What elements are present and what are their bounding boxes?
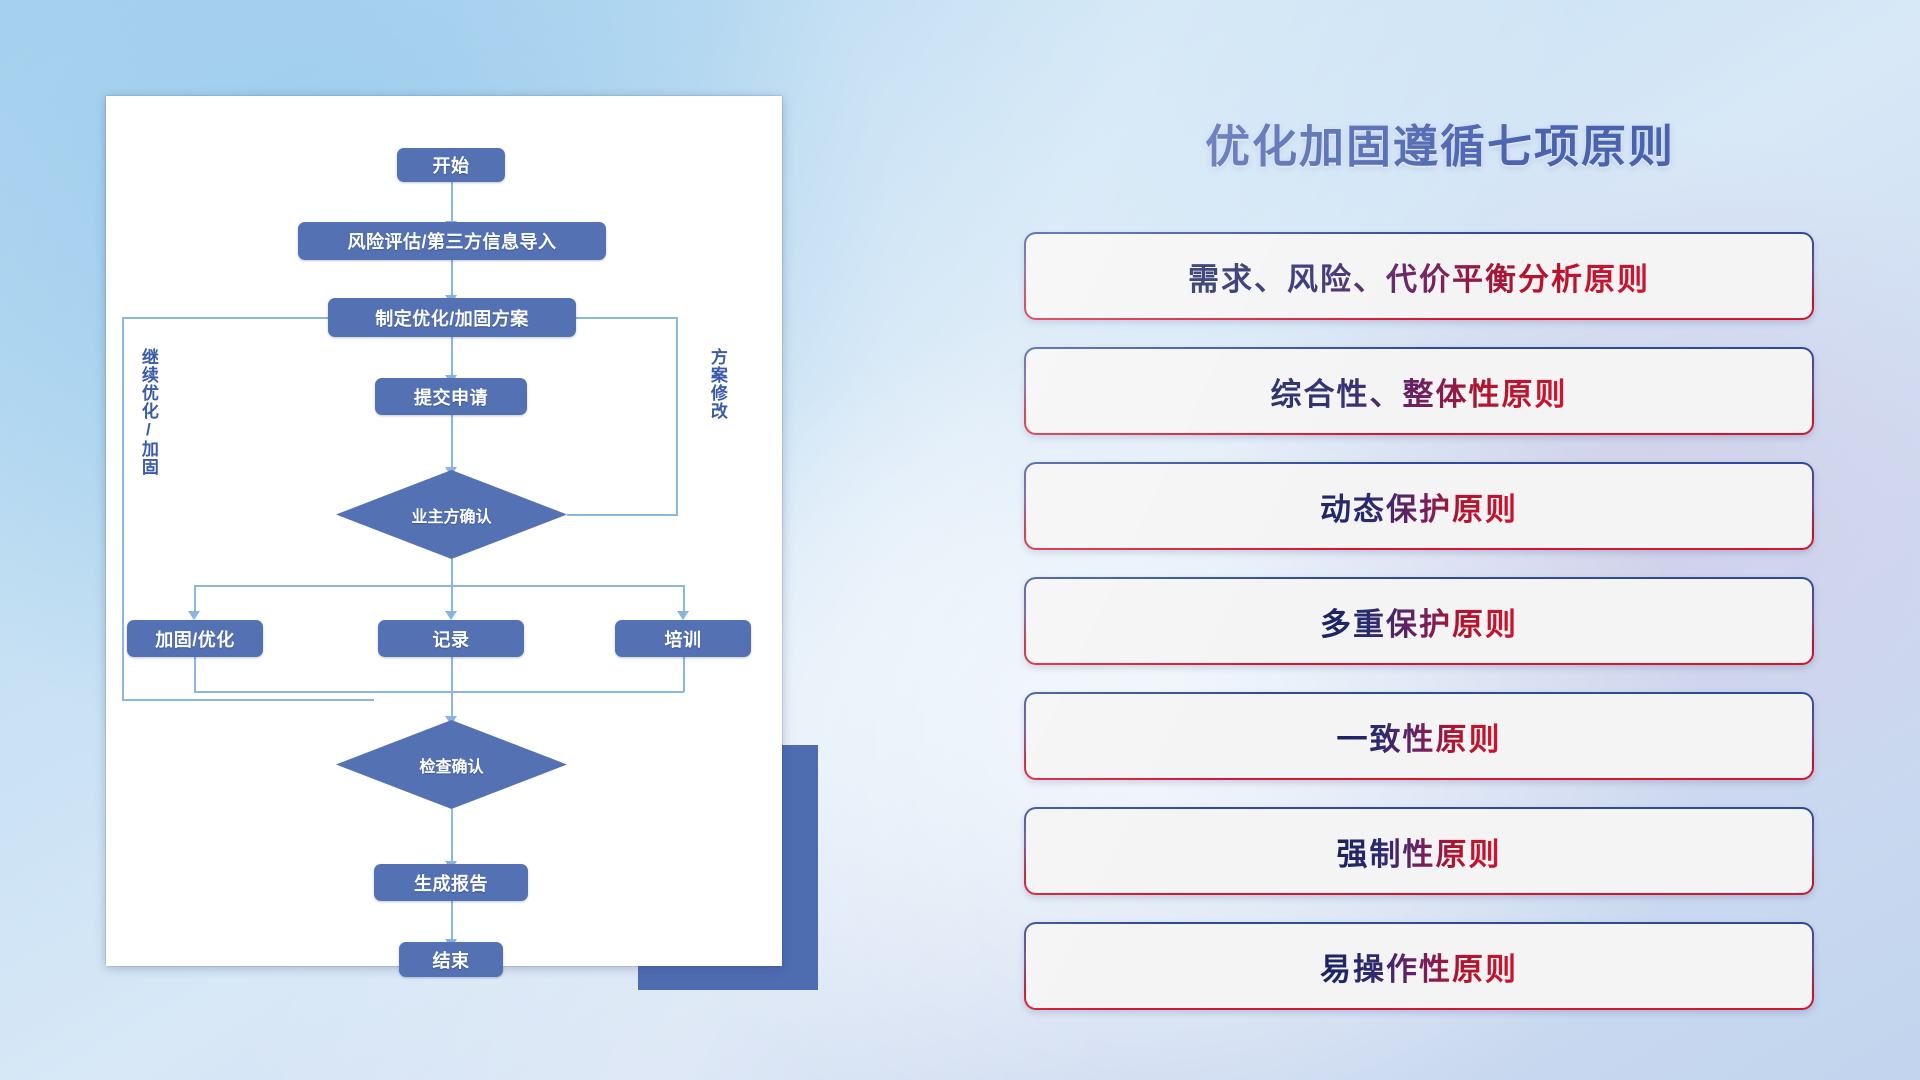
edge-start-assess xyxy=(451,180,453,224)
flow-node-submit[interactable]: 提交申请 xyxy=(375,378,527,415)
flow-node-submit-label: 提交申请 xyxy=(414,384,488,410)
principle-item-4-label: 多重保护原则 xyxy=(1320,599,1518,644)
flow-node-end-label: 结束 xyxy=(433,947,470,973)
edge-submit-owner xyxy=(451,414,453,470)
edge-branch-mid-arrow xyxy=(445,611,457,620)
edge-branch-bus xyxy=(194,585,684,587)
edge-label-plan-revision: 方案修改 xyxy=(708,348,726,420)
principle-item-1-surface: 需求、风险、代价平衡分析原则 xyxy=(1026,234,1812,318)
principle-item-7[interactable]: 易操作性原则 xyxy=(1024,922,1814,1010)
flow-node-owner-confirm[interactable]: 业主方确认 xyxy=(336,470,567,559)
edge-assess-plan xyxy=(451,258,453,299)
edge-merge-mid xyxy=(451,657,453,692)
principle-item-1-label: 需求、风险、代价平衡分析原则 xyxy=(1188,254,1650,299)
flow-node-owner-confirm-label: 业主方确认 xyxy=(411,503,491,527)
flow-node-record[interactable]: 记录 xyxy=(378,620,524,657)
flow-node-end[interactable]: 结束 xyxy=(399,942,503,977)
flow-node-report[interactable]: 生成报告 xyxy=(374,864,528,901)
edge-branch-left-arrow xyxy=(188,611,200,620)
principle-item-3-surface: 动态保护原则 xyxy=(1026,464,1812,548)
principle-item-5[interactable]: 一致性原则 xyxy=(1024,692,1814,780)
principles-panel-title: 优化加固遵循七项原则 xyxy=(1020,110,1860,175)
flow-node-plan[interactable]: 制定优化/加固方案 xyxy=(328,298,576,337)
principle-item-4-surface: 多重保护原则 xyxy=(1026,579,1812,663)
flow-node-check-confirm-label: 检查确认 xyxy=(419,753,483,777)
edge-owner-right xyxy=(567,514,677,516)
flow-node-reinforce[interactable]: 加固/优化 xyxy=(127,620,263,657)
principle-item-2-label: 综合性、整体性原则 xyxy=(1271,369,1568,414)
principle-item-6[interactable]: 强制性原则 xyxy=(1024,807,1814,895)
principle-item-5-surface: 一致性原则 xyxy=(1026,694,1812,778)
edge-branch-right-arrow xyxy=(677,611,689,620)
flow-node-reinforce-label: 加固/优化 xyxy=(155,626,235,652)
edge-merge-right xyxy=(683,657,685,692)
flow-node-record-label: 记录 xyxy=(433,626,470,652)
flow-node-assess[interactable]: 风险评估/第三方信息导入 xyxy=(298,222,606,260)
principle-item-6-surface: 强制性原则 xyxy=(1026,809,1812,893)
flow-node-start-label: 开始 xyxy=(433,152,470,178)
principle-item-2[interactable]: 综合性、整体性原则 xyxy=(1024,347,1814,435)
principle-item-1[interactable]: 需求、风险、代价平衡分析原则 xyxy=(1024,232,1814,320)
edge-owner-down xyxy=(451,558,453,586)
principle-item-5-label: 一致性原则 xyxy=(1337,714,1502,759)
flow-node-training-label: 培训 xyxy=(665,626,702,652)
edge-report-end xyxy=(451,901,453,942)
edge-plan-submit xyxy=(451,335,453,378)
principle-item-2-surface: 综合性、整体性原则 xyxy=(1026,349,1812,433)
edge-check-left xyxy=(122,699,374,701)
slide-canvas: 开始 风险评估/第三方信息导入 制定优化/加固方案 提交申请 业主方确认 加固/… xyxy=(0,0,1920,1080)
flow-node-check-confirm[interactable]: 检查确认 xyxy=(336,720,567,809)
principle-item-3[interactable]: 动态保护原则 xyxy=(1024,462,1814,550)
principle-item-3-label: 动态保护原则 xyxy=(1320,484,1518,529)
flow-node-report-label: 生成报告 xyxy=(414,870,488,896)
principle-item-4[interactable]: 多重保护原则 xyxy=(1024,577,1814,665)
principle-item-7-surface: 易操作性原则 xyxy=(1026,924,1812,1008)
edge-left-loop-top xyxy=(122,317,350,319)
principle-item-7-label: 易操作性原则 xyxy=(1320,944,1518,989)
edge-merge-bus xyxy=(194,691,684,693)
principles-list: 需求、风险、代价平衡分析原则 综合性、整体性原则 动态保护原则 多重保护原则 一… xyxy=(1024,232,1814,1037)
flow-node-assess-label: 风险评估/第三方信息导入 xyxy=(348,228,557,254)
flowchart-card: 开始 风险评估/第三方信息导入 制定优化/加固方案 提交申请 业主方确认 加固/… xyxy=(106,96,782,966)
edge-left-loop-vertical xyxy=(122,317,124,700)
flowchart-diagram: 开始 风险评估/第三方信息导入 制定优化/加固方案 提交申请 业主方确认 加固/… xyxy=(106,96,782,966)
flow-node-start[interactable]: 开始 xyxy=(397,148,505,182)
principle-item-6-label: 强制性原则 xyxy=(1337,829,1502,874)
flow-node-plan-label: 制定优化/加固方案 xyxy=(375,305,529,331)
edge-label-continue-optimize: 继续优化/加固 xyxy=(139,348,157,476)
edge-check-report xyxy=(451,809,453,864)
edge-merge-left xyxy=(194,657,196,692)
flow-node-training[interactable]: 培训 xyxy=(615,620,751,657)
edge-right-loop-vertical xyxy=(676,317,678,516)
